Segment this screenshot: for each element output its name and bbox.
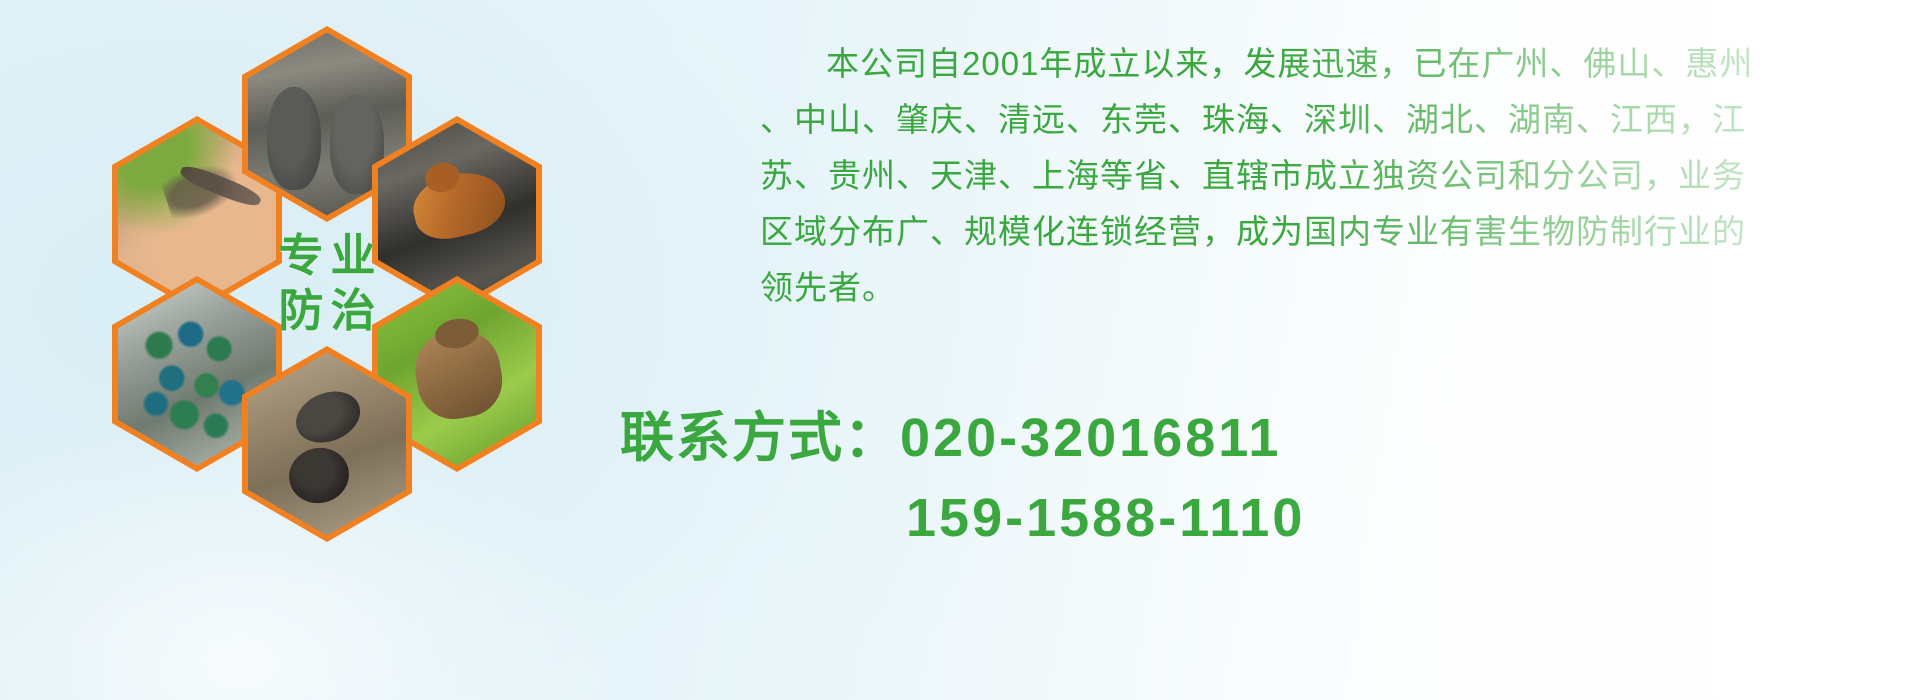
contact-block: 联系方式：020-32016811 159-1588-1110 [620, 398, 1900, 558]
intro-line-3: 苏、贵州、天津、上海等省、直辖市成立独资公司和分公司，业务 [760, 148, 1880, 204]
intro-paragraph: 本公司自2001年成立以来，发展迅速，已在广州、佛山、惠州 、中山、肇庆、清远、… [760, 36, 1880, 316]
promo-banner: 专业 防治 本公司自2001年成立以来，发展迅速，已在广州、佛山、惠州 、中山、… [0, 0, 1920, 700]
phone-primary[interactable]: 020-32016811 [900, 408, 1281, 468]
contact-secondary-row: 159-1588-1110 [620, 478, 1900, 558]
honeycomb-label-line2: 防治 [271, 284, 382, 339]
honeycomb-gallery: 专业 防治 [90, 8, 590, 568]
intro-line-1: 本公司自2001年成立以来，发展迅速，已在广州、佛山、惠州 [760, 36, 1880, 92]
intro-line-2: 、中山、肇庆、清远、东莞、珠海、深圳、湖北、湖南、江西，江 [760, 92, 1880, 148]
intro-line-5: 领先者。 [760, 260, 1880, 316]
contact-primary-row: 联系方式：020-32016811 [620, 398, 1900, 478]
intro-line-4: 区域分布广、规模化连锁经营，成为国内专业有害生物防制行业的 [760, 204, 1880, 260]
honeycomb-label-line1: 专业 [271, 229, 382, 284]
contact-label: 联系方式： [620, 408, 900, 468]
phone-secondary[interactable]: 159-1588-1110 [906, 488, 1305, 548]
